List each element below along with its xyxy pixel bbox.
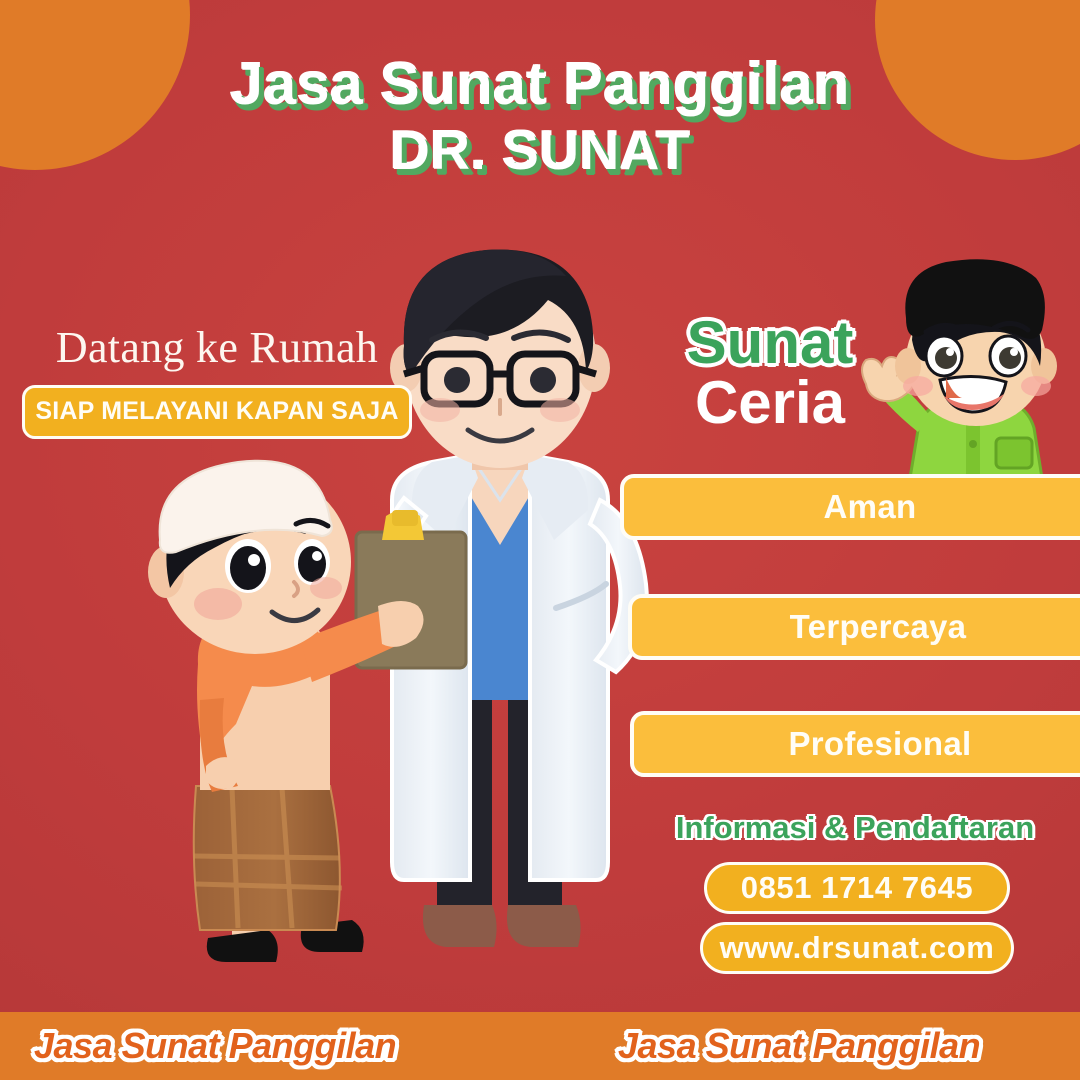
feature-pill-aman[interactable]: Aman [620, 474, 1080, 540]
brand-word-ceria: Ceria [640, 372, 900, 434]
contact-heading: Informasi & Pendaftaran [640, 810, 1070, 846]
phone-number: 0851 1714 7645 [741, 870, 974, 906]
feature-pill-label: Terpercaya [790, 608, 967, 646]
footer-text-right: Jasa Sunat Panggilan [618, 1025, 980, 1067]
brand-word-sunat: Sunat [640, 312, 900, 374]
phone-button[interactable]: 0851 1714 7645 [704, 862, 1010, 914]
feature-pill-label: Profesional [788, 725, 971, 763]
feature-pill-label: Aman [824, 488, 917, 526]
feature-pill-terpercaya[interactable]: Terpercaya [628, 594, 1080, 660]
feature-pill-profesional[interactable]: Profesional [630, 711, 1080, 777]
website-button[interactable]: www.drsunat.com [700, 922, 1014, 974]
poster-canvas: Jasa Sunat Panggilan DR. SUNAT Datang ke… [0, 0, 1080, 1080]
website-url: www.drsunat.com [720, 930, 995, 966]
footer-bar: Jasa Sunat Panggilan Jasa Sunat Panggila… [0, 1012, 1080, 1080]
availability-badge-label: SIAP MELAYANI KAPAN SAJA [35, 397, 398, 425]
availability-badge: SIAP MELAYANI KAPAN SAJA [22, 385, 412, 439]
brand-sunat-ceria: Sunat Ceria [640, 312, 900, 434]
footer-text-left: Jasa Sunat Panggilan [34, 1025, 396, 1067]
left-callout: Datang ke Rumah SIAP MELAYANI KAPAN SAJA [22, 322, 412, 439]
home-visit-headline: Datang ke Rumah [22, 322, 412, 374]
illustration-layer [0, 0, 1080, 1080]
